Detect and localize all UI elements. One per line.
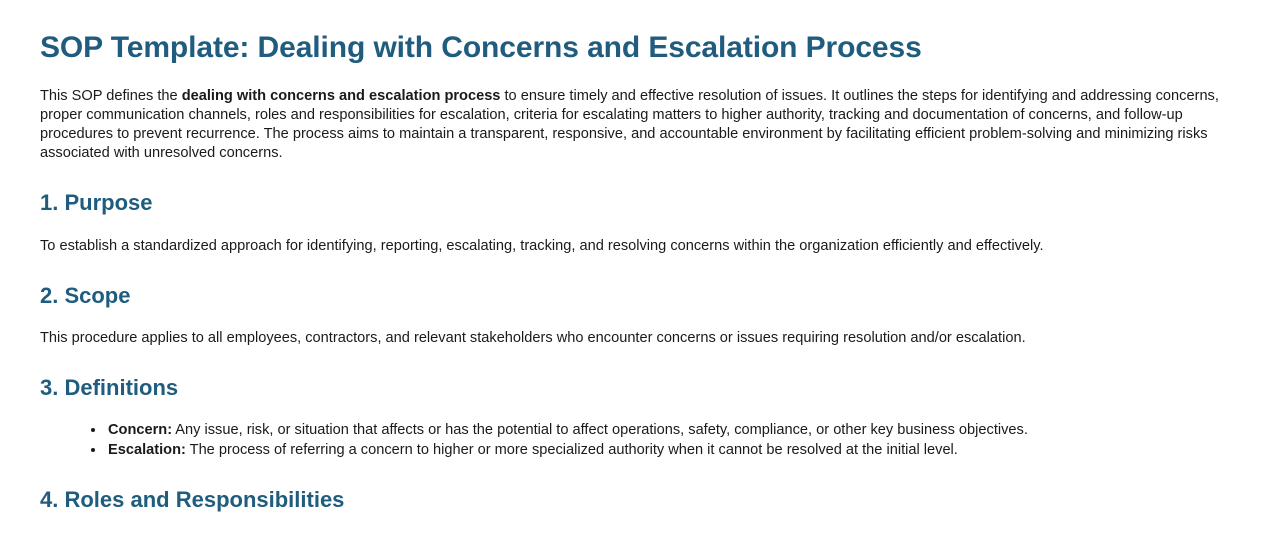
section-heading-definitions: 3. Definitions xyxy=(40,374,1223,402)
section-heading-scope: 2. Scope xyxy=(40,282,1223,310)
list-item: Concern: Any issue, risk, or situation t… xyxy=(106,420,1223,440)
definition-term-escalation: Escalation: xyxy=(108,442,186,458)
definition-term-concern: Concern: xyxy=(108,422,172,438)
list-item: Escalation: The process of referring a c… xyxy=(106,440,1223,460)
intro-text-before-bold: This SOP defines the xyxy=(40,88,182,104)
section-heading-roles-and-responsibilities: 4. Roles and Responsibilities xyxy=(40,486,1223,514)
section-body-scope: This procedure applies to all employees,… xyxy=(40,329,1223,348)
definitions-list: Concern: Any issue, risk, or situation t… xyxy=(40,420,1223,460)
definition-text-concern: Any issue, risk, or situation that affec… xyxy=(172,422,1028,438)
intro-bold-phrase: dealing with concerns and escalation pro… xyxy=(182,88,501,104)
intro-paragraph: This SOP defines the dealing with concer… xyxy=(40,87,1223,163)
page-title: SOP Template: Dealing with Concerns and … xyxy=(40,30,1223,65)
section-heading-purpose: 1. Purpose xyxy=(40,189,1223,217)
definition-text-escalation: The process of referring a concern to hi… xyxy=(186,442,958,458)
document-page: SOP Template: Dealing with Concerns and … xyxy=(0,0,1263,513)
section-body-purpose: To establish a standardized approach for… xyxy=(40,237,1223,256)
